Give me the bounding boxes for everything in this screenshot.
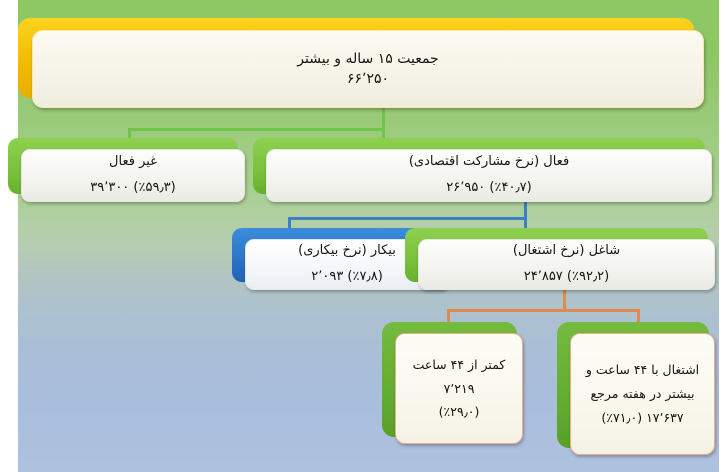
- node-value: (٪۵۹٫۳) ۳۹٬۳۰۰: [90, 179, 176, 198]
- node-active-participation[interactable]: فعال (نرخ مشارکت اقتصادی) (٪۴۰٫۷) ۲۶٬۹۵۰: [253, 138, 705, 194]
- connector-population-stem: [382, 108, 385, 130]
- node-label: غیر فعال: [109, 153, 157, 172]
- node-percent: (٪۲۹٫۰): [439, 400, 480, 424]
- connector-employed-bar: [447, 309, 640, 312]
- node-value: (٪۷٫۸) ۲٬۰۹۳: [311, 268, 383, 287]
- node-value: (٪۴۰٫۷) ۲۶٬۹۵۰: [446, 179, 532, 198]
- node-face: شاغل (نرخ اشتغال) (٪۹۲٫۲) ۲۴٬۸۵۷: [418, 239, 715, 290]
- node-face: اشتغال با ۴۴ ساعت و بیشتر در هفته مرجع ۱…: [570, 333, 715, 455]
- node-over-44-hours[interactable]: اشتغال با ۴۴ ساعت و بیشتر در هفته مرجع ۱…: [557, 322, 709, 448]
- node-value: ۷٬۲۱۹: [444, 377, 475, 401]
- node-inactive[interactable]: غیر فعال (٪۵۹٫۳) ۳۹٬۳۰۰: [8, 138, 238, 194]
- node-face: غیر فعال (٪۵۹٫۳) ۳۹٬۳۰۰: [21, 149, 245, 202]
- node-face: فعال (نرخ مشارکت اقتصادی) (٪۴۰٫۷) ۲۶٬۹۵۰: [266, 149, 712, 202]
- node-label: کمتر از ۴۴ ساعت: [413, 353, 506, 377]
- connector-employed-stem: [563, 290, 566, 311]
- node-value: (٪۹۲٫۲) ۲۴٬۸۵۷: [524, 268, 610, 287]
- node-population-15-plus[interactable]: جمعیت ۱۵ ساله و بیشتر ۶۶٬۲۵۰: [18, 18, 694, 98]
- connector-population-bar: [128, 128, 385, 131]
- node-label: جمعیت ۱۵ ساله و بیشتر: [297, 49, 438, 69]
- connector-active-bar: [288, 217, 527, 220]
- slide-right-margin: [719, 0, 727, 472]
- node-label: فعال (نرخ مشارکت اقتصادی): [409, 153, 569, 172]
- node-value: ۱۷٬۶۳۷ (٪۷۱٫۰): [601, 406, 683, 430]
- node-face: جمعیت ۱۵ ساله و بیشتر ۶۶٬۲۵۰: [32, 30, 704, 108]
- node-label: شاغل (نرخ اشتغال): [513, 242, 620, 261]
- node-under-44-hours[interactable]: کمتر از ۴۴ ساعت ۷٬۲۱۹ (٪۲۹٫۰): [382, 322, 517, 437]
- node-employed[interactable]: شاغل (نرخ اشتغال) (٪۹۲٫۲) ۲۴٬۸۵۷: [405, 228, 708, 282]
- node-label: بیکار (نرخ بیکاری): [298, 242, 396, 261]
- node-label: اشتغال با ۴۴ ساعت و بیشتر در هفته مرجع: [581, 358, 704, 406]
- flowchart-slide: جمعیت ۱۵ ساله و بیشتر ۶۶٬۲۵۰ غیر فعال (٪…: [0, 0, 727, 472]
- node-value: ۶۶٬۲۵۰: [347, 69, 389, 89]
- node-face: کمتر از ۴۴ ساعت ۷٬۲۱۹ (٪۲۹٫۰): [395, 333, 523, 444]
